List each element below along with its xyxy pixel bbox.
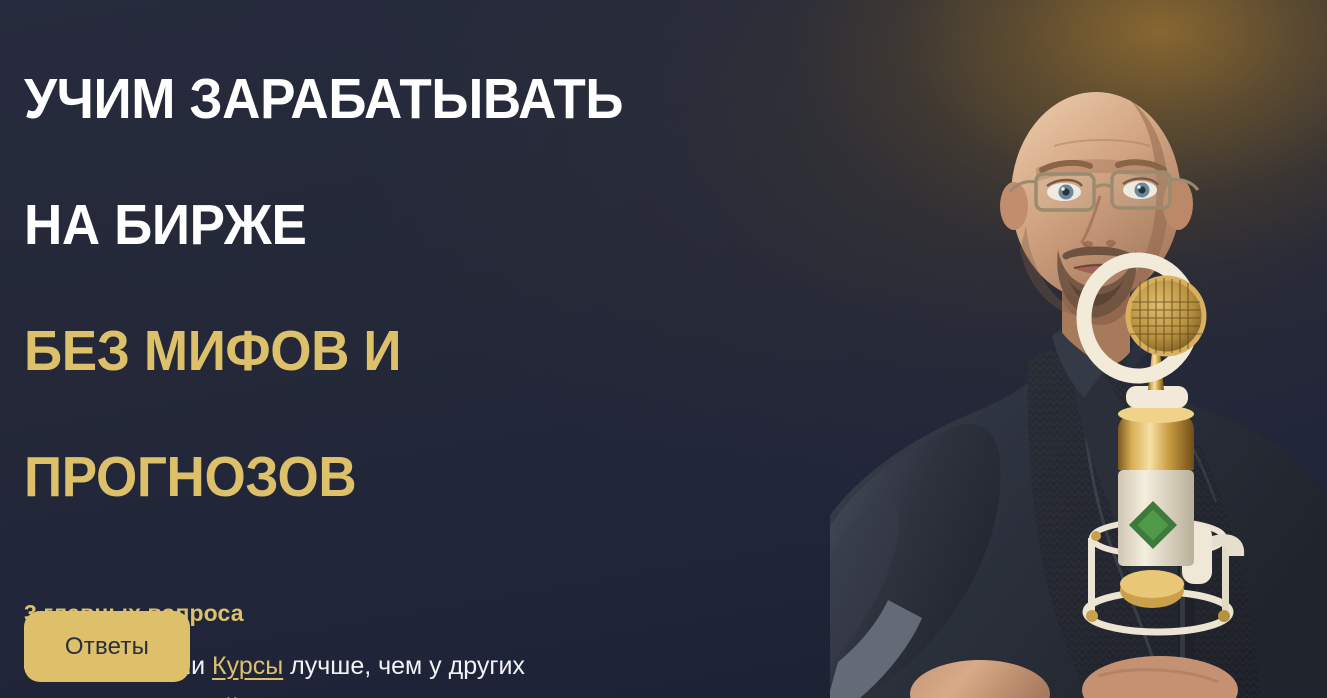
answers-button[interactable]: Ответы [24, 611, 190, 682]
presenter-photo [830, 0, 1327, 698]
headline-line-3: БЕЗ МИФОВ И [24, 320, 675, 383]
hero-content: УЧИМ ЗАРАБАТЫВАТЬ НА БИРЖЕ БЕЗ МИФОВ И П… [24, 0, 724, 698]
course-link-kursy[interactable]: Курсы [212, 652, 283, 680]
headline-line-4: ПРОГНОЗОВ [24, 446, 675, 509]
page-title: УЧИМ ЗАРАБАТЫВАТЬ НА БИРЖЕ БЕЗ МИФОВ И П… [24, 5, 675, 572]
headline-line-2: НА БИРЖЕ [24, 194, 675, 257]
hero-banner: УЧИМ ЗАРАБАТЫВАТЬ НА БИРЖЕ БЕЗ МИФОВ И П… [0, 0, 1327, 698]
headline-line-1: УЧИМ ЗАРАБАТЫВАТЬ [24, 68, 675, 131]
